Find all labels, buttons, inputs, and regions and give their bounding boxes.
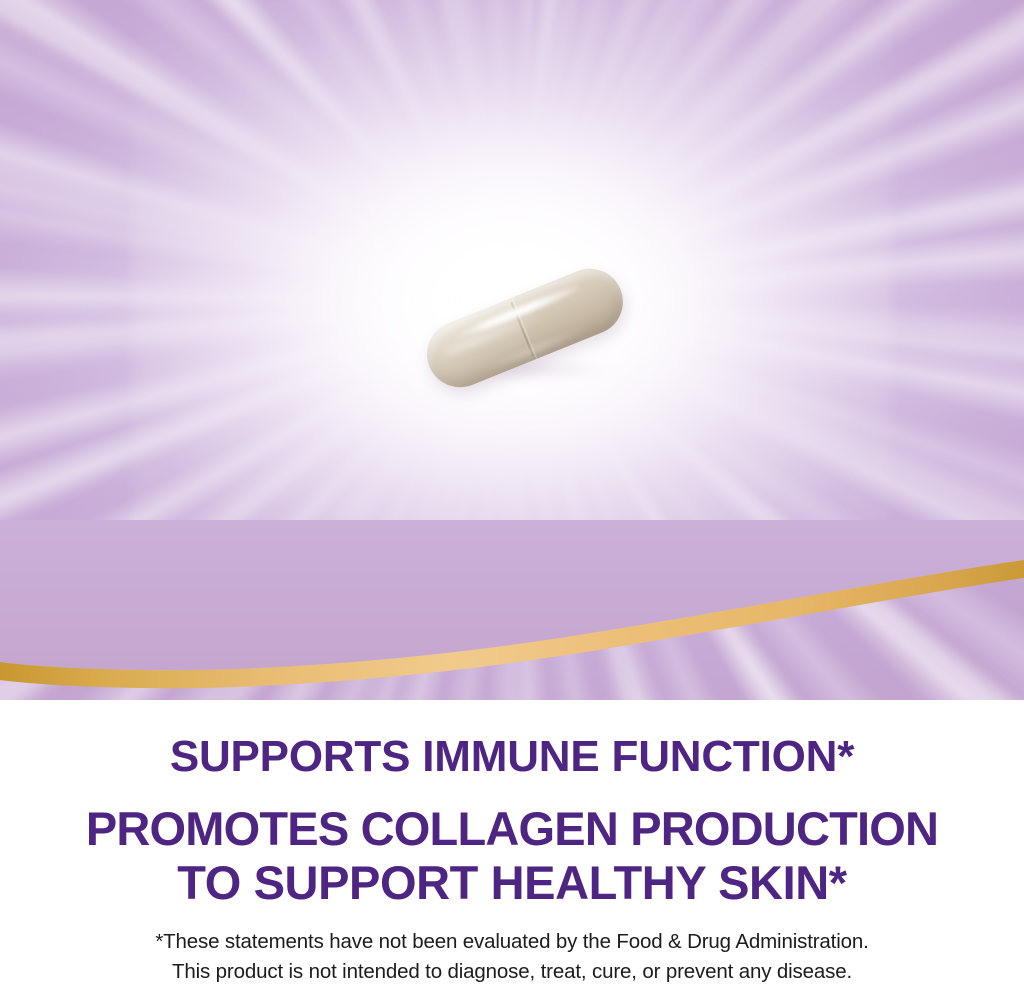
product-infographic: SUPPORTS IMMUNE FUNCTION* PROMOTES COLLA…: [0, 0, 1024, 991]
claim-line-2: PROMOTES COLLAGEN PRODUCTION: [0, 805, 1024, 852]
claim-line-1: SUPPORTS IMMUNE FUNCTION*: [0, 735, 1024, 779]
disclaimer-line-1: *These statements have not been evaluate…: [0, 927, 1024, 957]
disclaimer-line-2: This product is not intended to diagnose…: [0, 957, 1024, 987]
claims-block: SUPPORTS IMMUNE FUNCTION* PROMOTES COLLA…: [0, 735, 1024, 906]
product-image: [422, 262, 628, 388]
fda-disclaimer: *These statements have not been evaluate…: [0, 927, 1024, 987]
gold-wave-divider-icon: [0, 520, 1024, 720]
claim-line-3: TO SUPPORT HEALTHY SKIN*: [0, 859, 1024, 906]
